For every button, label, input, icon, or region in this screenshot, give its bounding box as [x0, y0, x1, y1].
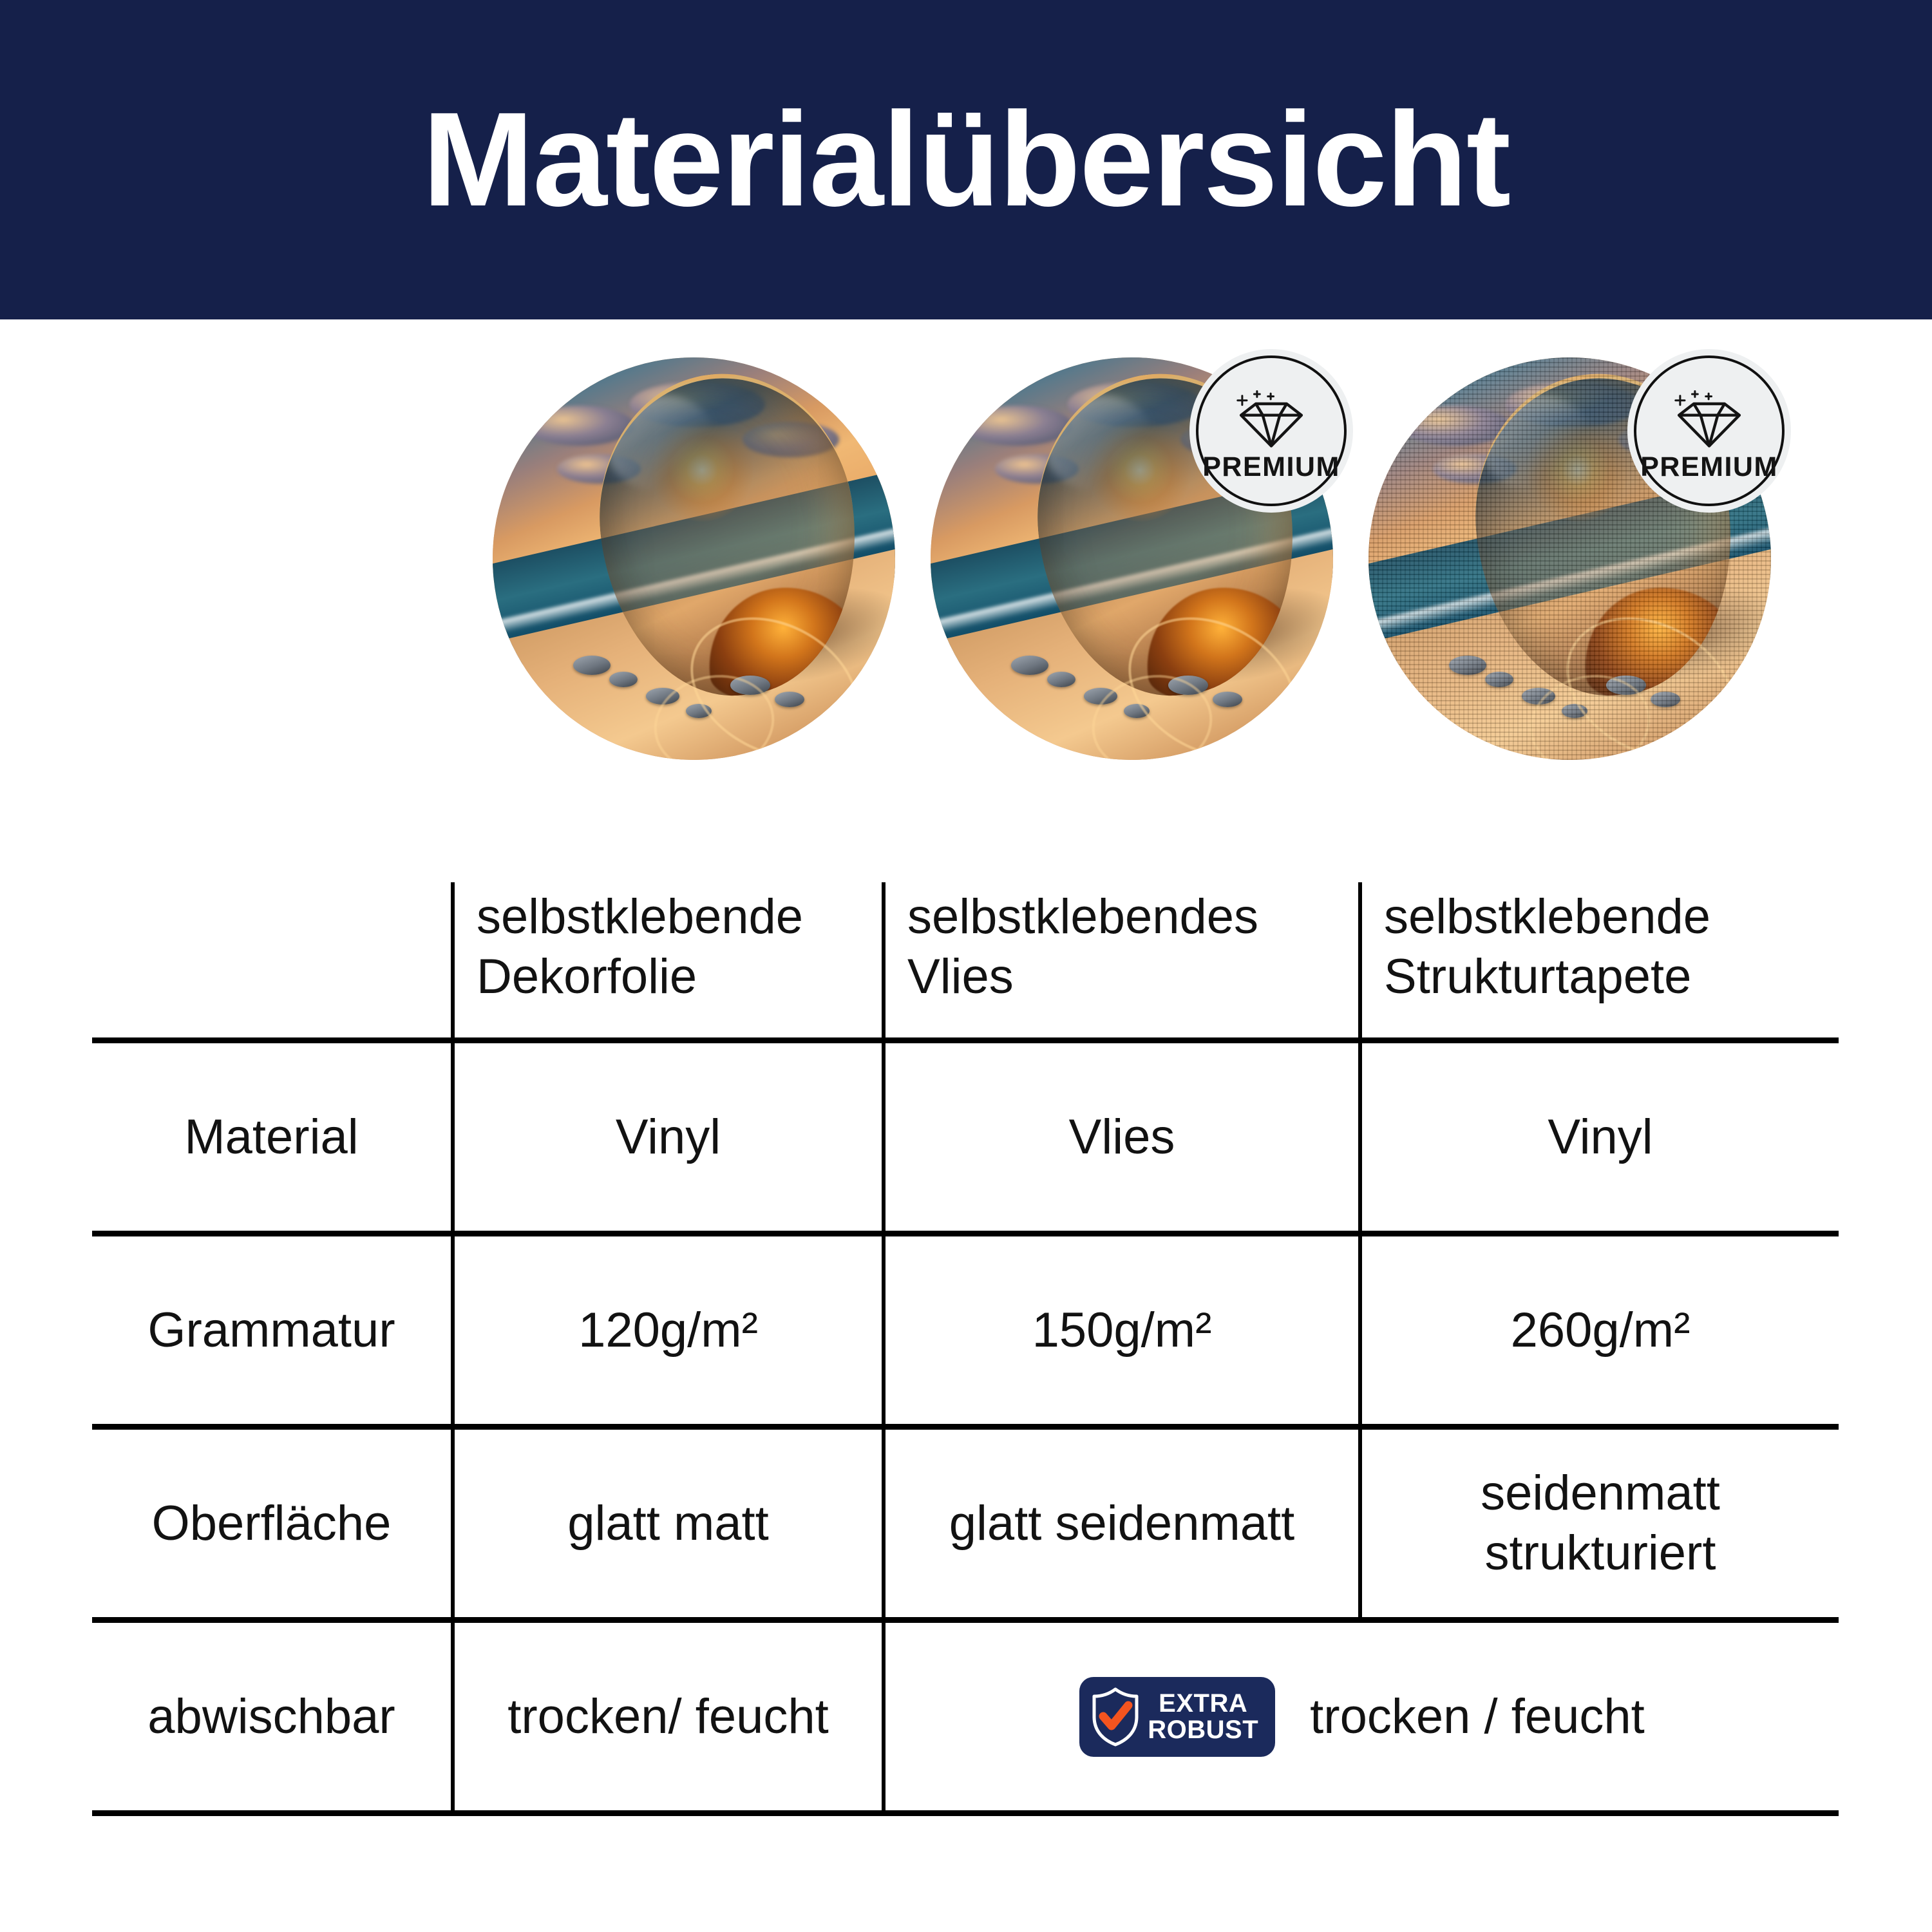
premium-badge: PREMIUM: [1196, 355, 1347, 506]
cell-oberflaeche-strukturtapete: seidenmatt strukturiert: [1360, 1427, 1839, 1620]
premium-badge-label: PREMIUM: [1202, 453, 1340, 481]
product-preview-strukturtapete[interactable]: PREMIUM: [1368, 348, 1781, 760]
table-row-grammatur: Grammatur 120g/m² 150g/m² 260g/m²: [92, 1234, 1839, 1427]
cell-abwischbar-dekorfolie: trocken/ feucht: [453, 1620, 884, 1814]
premium-badge: PREMIUM: [1634, 355, 1785, 506]
cell-abwischbar-value: trocken / feucht: [1310, 1687, 1645, 1747]
product-preview-vlies[interactable]: PREMIUM: [931, 348, 1343, 760]
product-preview-dekorfolie[interactable]: [493, 348, 905, 760]
page-header: Materialübersicht: [0, 0, 1932, 319]
row-label-oberflaeche: Oberfläche: [92, 1427, 453, 1620]
beach-sunset-scene: [493, 357, 895, 760]
extra-robust-badge: EXTRA ROBUST: [1079, 1677, 1275, 1757]
shield-check-icon: [1091, 1687, 1140, 1747]
cell-material-vlies: Vlies: [884, 1041, 1360, 1234]
row-label-grammatur: Grammatur: [92, 1234, 453, 1427]
table-row-abwischbar: abwischbar trocken/ feucht EXTRA ROBUST: [92, 1620, 1839, 1814]
product-preview-row: PREMIUM: [0, 348, 1932, 773]
cell-grammatur-strukturtapete: 260g/m²: [1360, 1234, 1839, 1427]
table-row-oberflaeche: Oberfläche glatt matt glatt seidenmatt s…: [92, 1427, 1839, 1620]
cell-material-dekorfolie: Vinyl: [453, 1041, 884, 1234]
diamond-icon: [1671, 389, 1747, 448]
table-row-material: Material Vinyl Vlies Vinyl: [92, 1041, 1839, 1234]
cell-grammatur-vlies: 150g/m²: [884, 1234, 1360, 1427]
premium-badge-label: PREMIUM: [1640, 453, 1778, 481]
diamond-icon: [1233, 389, 1309, 448]
cell-oberflaeche-vlies: glatt seidenmatt: [884, 1427, 1360, 1620]
cell-grammatur-dekorfolie: 120g/m²: [453, 1234, 884, 1427]
product-image-circle: [493, 357, 895, 760]
row-label-abwischbar: abwischbar: [92, 1620, 453, 1814]
table-header-row: selbstklebende Dekorfolie selbstklebende…: [92, 882, 1839, 1041]
cell-oberflaeche-dekorfolie: glatt matt: [453, 1427, 884, 1620]
cell-material-strukturtapete: Vinyl: [1360, 1041, 1839, 1234]
robust-badge-line2: ROBUST: [1148, 1717, 1258, 1743]
header-cell-vlies: selbstklebendes Vlies: [884, 882, 1360, 1041]
robust-badge-line1: EXTRA: [1148, 1690, 1258, 1717]
material-comparison-table: selbstklebende Dekorfolie selbstklebende…: [92, 882, 1839, 1816]
header-cell-empty: [92, 882, 453, 1041]
header-cell-strukturtapete: selbstklebende Strukturtapete: [1360, 882, 1839, 1041]
row-label-material: Material: [92, 1041, 453, 1234]
cell-abwischbar-merged: EXTRA ROBUST trocken / feucht: [884, 1620, 1839, 1814]
header-cell-dekorfolie: selbstklebende Dekorfolie: [453, 882, 884, 1041]
page-title: Materialübersicht: [422, 93, 1510, 227]
